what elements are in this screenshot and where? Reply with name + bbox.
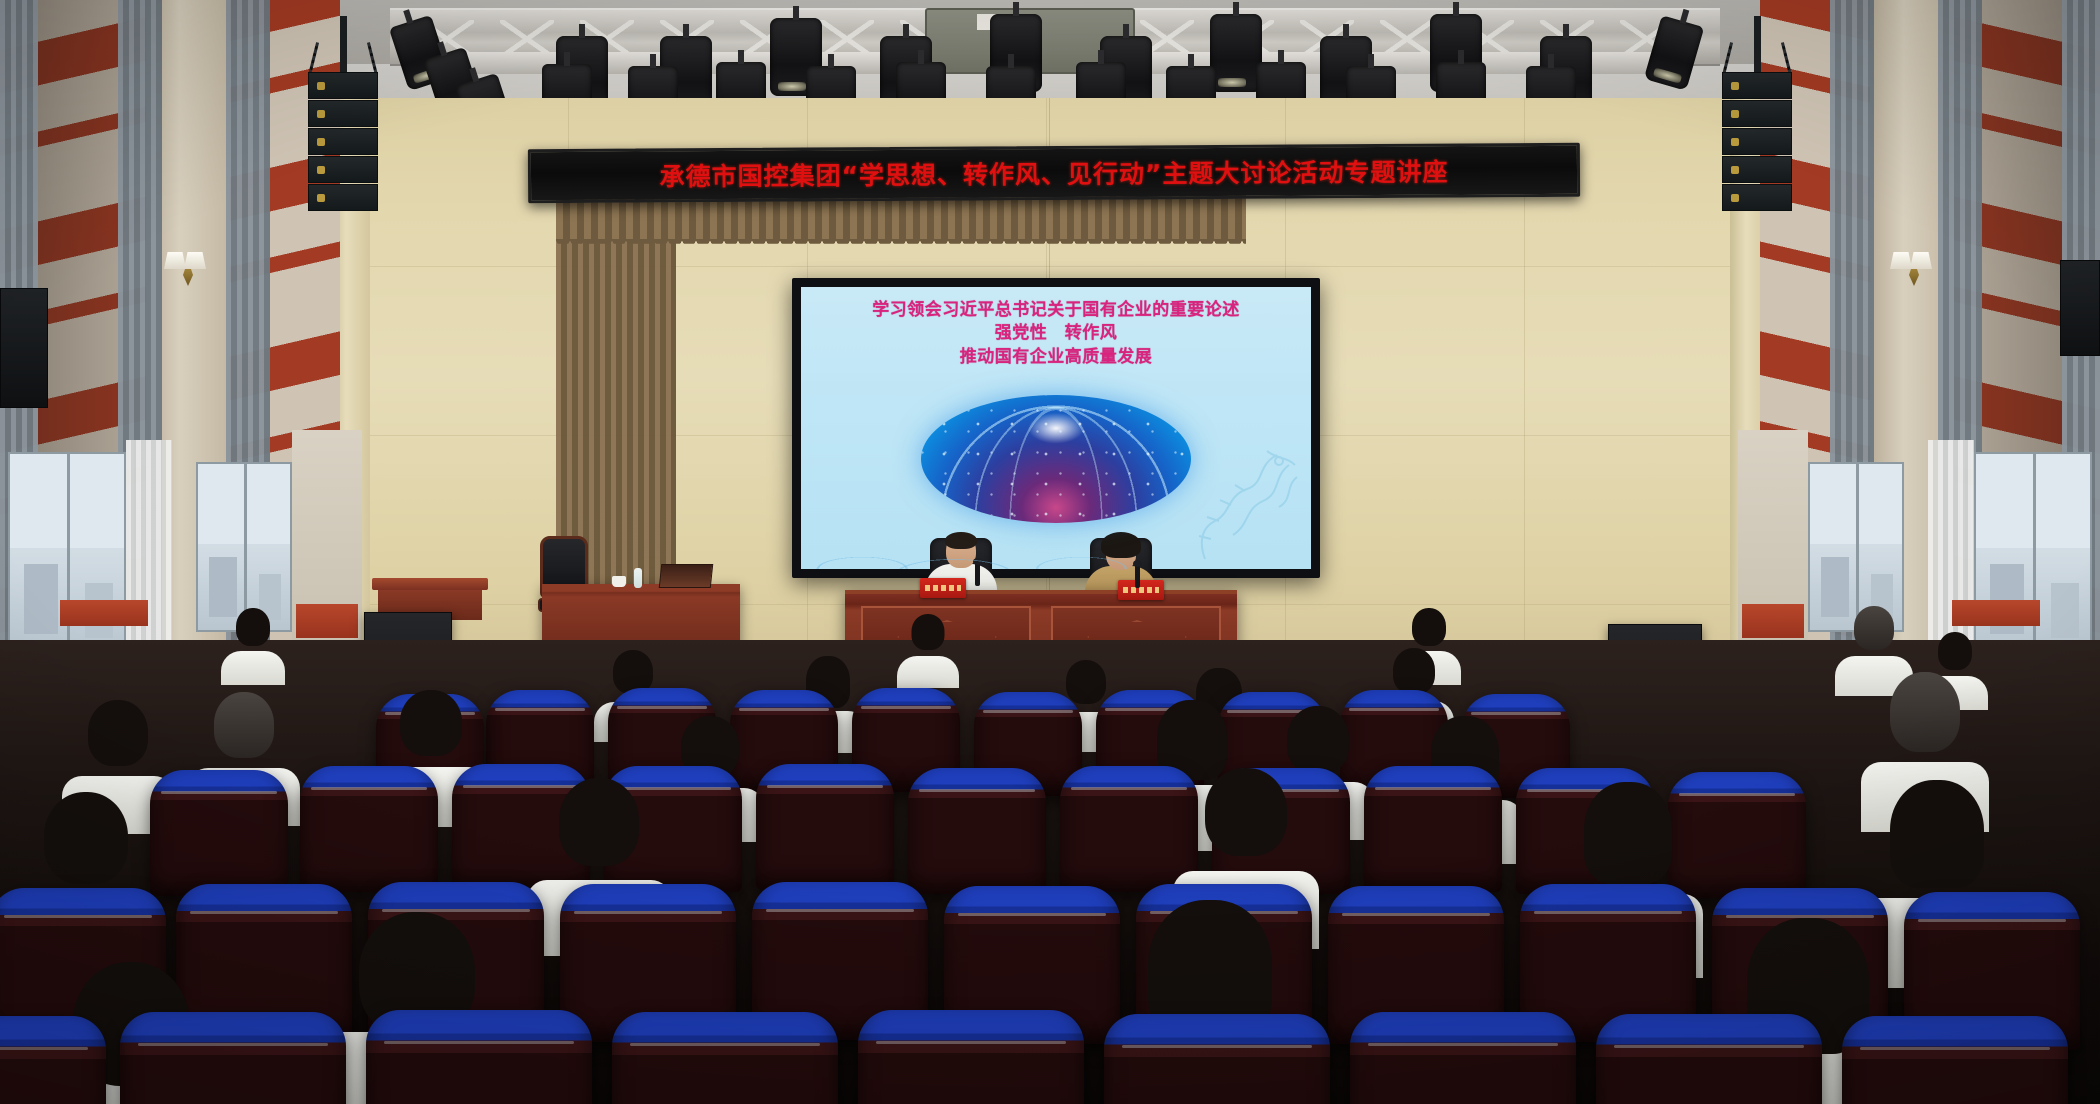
- audience-chair: [1842, 1016, 2068, 1104]
- event-banner: 承德市国控集团“学思想、转作风、见行动”主题大讨论活动专题讲座: [528, 143, 1580, 203]
- audience-chair: [120, 1012, 346, 1104]
- corner-speaker-left: [0, 288, 48, 408]
- audience-chair: [1364, 766, 1502, 892]
- audience-member: [222, 608, 284, 680]
- banner-text: 承德市国控集团“学思想、转作风、见行动”主题大讨论活动专题讲座: [659, 153, 1448, 194]
- audience-chair: [1596, 1014, 1822, 1104]
- audience-chair: [1350, 1012, 1576, 1104]
- audience-chair: [0, 1016, 106, 1104]
- window-left-2: [196, 462, 292, 632]
- globe-network-graphic: [921, 395, 1191, 523]
- wall-sconce-left: [164, 252, 210, 286]
- audience-chair: [858, 1010, 1084, 1104]
- audience-chair: [612, 1012, 838, 1104]
- wall-sconce-right: [1890, 252, 1936, 286]
- corner-speaker-right: [2060, 260, 2100, 356]
- conference-hall-scene: 学习领会习近平总书记关于国有企业的重要论述 强党性 转作风 推动国有企业高质量发…: [0, 0, 2100, 1104]
- water-bottle: [634, 568, 642, 588]
- audience-chair: [300, 766, 438, 892]
- audience-chair: [908, 768, 1046, 894]
- slide-line-1: 学习领会习近平总书记关于国有企业的重要论述: [801, 299, 1311, 321]
- hanging-line-array-left: [308, 72, 378, 222]
- red-accent-panel-left: [296, 604, 358, 638]
- audience-member: [898, 614, 958, 684]
- slide-line-3: 推动国有企业高质量发展: [801, 345, 1311, 369]
- red-accent-panel-left-2: [60, 600, 148, 626]
- projection-screen: 学习领会习近平总书记关于国有企业的重要论述 强党性 转作风 推动国有企业高质量发…: [792, 278, 1320, 578]
- audience-chair: [756, 764, 894, 890]
- hanging-line-array-right: [1722, 72, 1792, 222]
- laptop: [659, 564, 714, 588]
- nameplate-right: [1118, 580, 1164, 600]
- audience-chair: [366, 1010, 592, 1104]
- tea-cup: [612, 576, 626, 587]
- audience-chair: [150, 770, 288, 896]
- window-sheer-left: [126, 440, 172, 660]
- window-sheer-right: [1928, 440, 1974, 660]
- stage-spotlight: [1210, 14, 1262, 92]
- slide-line-2: 强党性 转作风: [801, 321, 1311, 345]
- nameplate-left: [920, 578, 966, 598]
- audience-chair: [1104, 1014, 1330, 1104]
- red-accent-panel-right-2: [1952, 600, 2040, 626]
- red-accent-panel-right: [1742, 604, 1804, 638]
- slide-text-block: 学习领会习近平总书记关于国有企业的重要论述 强党性 转作风 推动国有企业高质量发…: [801, 287, 1311, 369]
